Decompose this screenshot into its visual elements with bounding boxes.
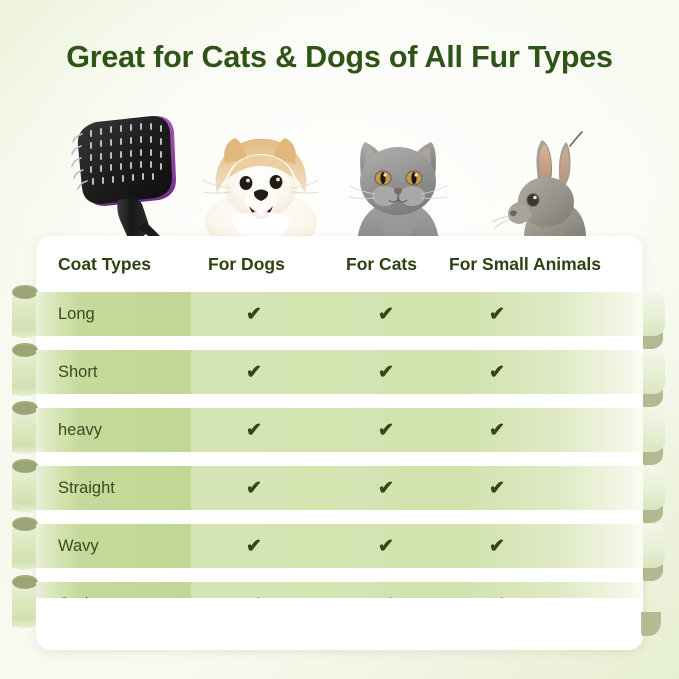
ribbon-right-curl-shadow-icon [641, 612, 661, 636]
pomeranian-dog-image [191, 126, 331, 244]
table-row: Wavy ✔ ✔ ✔ [36, 524, 643, 582]
table-body: Long ✔ ✔ ✔ [36, 292, 643, 640]
check-icon-for-dogs: ✔ [191, 363, 326, 382]
cell-group: ✔ ✔ ✔ [191, 466, 643, 510]
grey-cat-image [339, 124, 457, 244]
check-icon-for-cats: ✔ [326, 305, 446, 324]
ribbon-row-straight: Straight ✔ ✔ ✔ [36, 466, 643, 510]
check-icon-for-small-animals: ✔ [446, 421, 643, 440]
check-icon-for-cats: ✔ [326, 479, 446, 498]
cell-coat-type: Short [36, 350, 191, 394]
check-icon-for-dogs: ✔ [191, 479, 326, 498]
check-icon-for-cats: ✔ [326, 363, 446, 382]
pet-slicker-brush-image [60, 110, 200, 242]
ribbon-right-curl-icon [641, 466, 665, 524]
coat-type-label: Short [58, 363, 97, 382]
ribbon-left-curl-icon [12, 342, 38, 394]
hero-image-row [36, 110, 643, 240]
card-footer-band [36, 598, 643, 650]
check-icon-for-small-animals: ✔ [446, 537, 643, 556]
check-icon-for-small-animals: ✔ [446, 305, 643, 324]
column-header-for-cats: For Cats [326, 254, 446, 275]
column-header-for-small-animals: For Small Animals [446, 254, 643, 275]
ribbon-left-curl-icon [12, 400, 38, 452]
ribbon-left-curl-icon [12, 458, 38, 510]
check-icon-for-small-animals: ✔ [446, 479, 643, 498]
cell-group: ✔ ✔ ✔ [191, 350, 643, 394]
ribbon-left-curl-icon [12, 284, 38, 336]
check-icon-for-cats: ✔ [326, 421, 446, 440]
ribbon-right-curl-icon [641, 292, 665, 350]
coat-type-label: heavy [58, 421, 102, 440]
cell-group: ✔ ✔ ✔ [191, 292, 643, 336]
coat-type-label: Wavy [58, 537, 99, 556]
coat-type-table-card: Coat Types For Dogs For Cats For Small A… [36, 236, 643, 650]
check-icon-for-small-animals: ✔ [446, 363, 643, 382]
table-row: Long ✔ ✔ ✔ [36, 292, 643, 350]
coat-type-label: Straight [58, 479, 115, 498]
ribbon-row-short: Short ✔ ✔ ✔ [36, 350, 643, 394]
table-row: heavy ✔ ✔ ✔ [36, 408, 643, 466]
check-icon-for-dogs: ✔ [191, 305, 326, 324]
cell-coat-type: Long [36, 292, 191, 336]
ribbon-row-long: Long ✔ ✔ ✔ [36, 292, 643, 336]
page-title-text: Great for Cats & Dogs of All Fur Types [62, 40, 617, 78]
table-header-row: Coat Types For Dogs For Cats For Small A… [36, 236, 643, 292]
table-row: Short ✔ ✔ ✔ [36, 350, 643, 408]
grey-rabbit-image [488, 124, 618, 244]
ribbon-left-curl-icon [12, 574, 38, 626]
page-title: Great for Cats & Dogs of All Fur Types [0, 40, 679, 78]
ribbon-row-heavy: heavy ✔ ✔ ✔ [36, 408, 643, 452]
column-header-coat-types: Coat Types [36, 254, 191, 275]
table-row: Straight ✔ ✔ ✔ [36, 466, 643, 524]
cell-coat-type: Wavy [36, 524, 191, 568]
check-icon-for-dogs: ✔ [191, 421, 326, 440]
column-header-for-dogs: For Dogs [191, 254, 326, 275]
cell-group: ✔ ✔ ✔ [191, 408, 643, 452]
ribbon-right-curl-icon [641, 524, 665, 582]
check-icon-for-cats: ✔ [326, 537, 446, 556]
cell-coat-type: heavy [36, 408, 191, 452]
check-icon-for-dogs: ✔ [191, 537, 326, 556]
ribbon-right-curl-icon [641, 350, 665, 408]
coat-type-label: Long [58, 305, 95, 324]
ribbon-left-curl-icon [12, 516, 38, 568]
ribbon-row-wavy: Wavy ✔ ✔ ✔ [36, 524, 643, 568]
cell-group: ✔ ✔ ✔ [191, 524, 643, 568]
ribbon-right-curl-icon [641, 408, 665, 466]
cell-coat-type: Straight [36, 466, 191, 510]
